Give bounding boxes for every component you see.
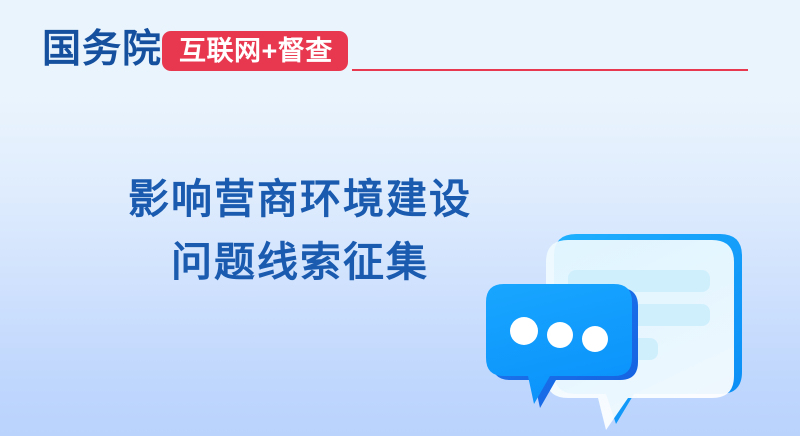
dot-3 xyxy=(582,326,608,352)
gov-council-logo: 国务院 xyxy=(42,27,162,73)
badge-label: 互联网+督查 xyxy=(179,36,333,66)
header-divider-rule xyxy=(352,69,748,71)
dot-2 xyxy=(547,322,573,348)
promo-banner: 国务院 互联网+督查 影响营商环境建设 问题线索征集 xyxy=(0,0,800,436)
internet-plus-supervision-badge: 互联网+督查 xyxy=(162,31,348,71)
chat-bubbles-illustration xyxy=(480,218,790,436)
dot-1 xyxy=(510,317,538,345)
banner-header: 国务院 互联网+督查 xyxy=(0,0,800,96)
